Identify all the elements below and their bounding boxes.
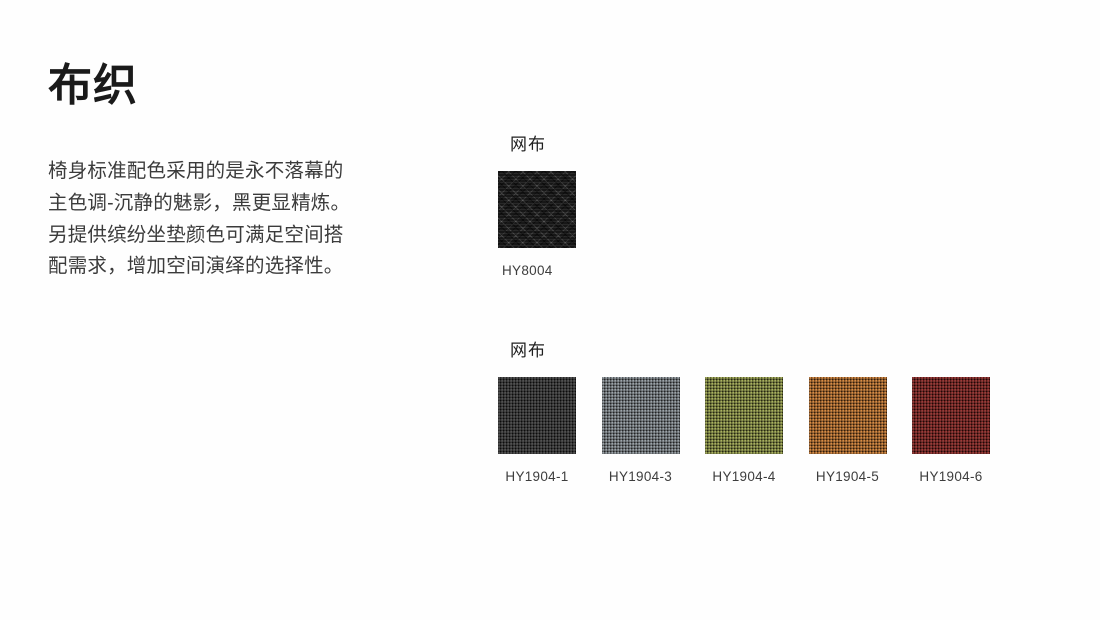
description-line-2: 主色调-沉静的魅影，黑更显精炼。 — [48, 188, 388, 220]
swatch-item-hy1904-1[interactable]: HY1904-1 — [498, 377, 576, 484]
swatch-label-hy1904-4: HY1904-4 — [705, 454, 783, 484]
swatch-label-hy8004: HY8004 — [498, 248, 576, 278]
weave-texture-layer-b — [912, 377, 990, 454]
swatch-item-hy1904-3[interactable]: HY1904-3 — [602, 377, 680, 484]
section-heading-2: 网布 — [510, 336, 1058, 361]
page-title: 布织 — [48, 62, 448, 110]
swatch-label-hy1904-5: HY1904-5 — [809, 454, 887, 484]
swatch-section-mesh-primary: 网布 HY8004 — [498, 130, 1058, 278]
weave-texture-layer-a — [809, 377, 887, 454]
swatch-chip-hy1904-6[interactable] — [912, 377, 990, 454]
weave-texture-layer-c — [705, 377, 783, 454]
weave-texture-layer-a — [705, 377, 783, 454]
swatch-chip-hy1904-1[interactable] — [498, 377, 576, 454]
weave-texture-layer-a — [602, 377, 680, 454]
weave-texture-layer-a — [912, 377, 990, 454]
swatch-chip-hy1904-3[interactable] — [602, 377, 680, 454]
weave-texture-layer-b — [809, 377, 887, 454]
weave-texture-layer-c — [602, 377, 680, 454]
weave-texture-layer-c — [809, 377, 887, 454]
description-line-1: 椅身标准配色采用的是永不落幕的 — [48, 156, 388, 188]
swatch-item-hy1904-5[interactable]: HY1904-5 — [809, 377, 887, 484]
weave-texture-layer-b — [602, 377, 680, 454]
weave-texture-layer-b — [705, 377, 783, 454]
weave-texture-layer-a — [498, 377, 576, 454]
swatch-item-hy1904-4[interactable]: HY1904-4 — [705, 377, 783, 484]
description-line-4: 配需求，增加空间演绎的选择性。 — [48, 251, 388, 283]
swatch-item-hy8004[interactable]: HY8004 — [498, 171, 576, 278]
swatch-label-hy1904-1: HY1904-1 — [498, 454, 576, 484]
mesh-texture-layer-c — [498, 171, 576, 248]
left-content-column: 布织 椅身标准配色采用的是永不落幕的 主色调-沉静的魅影，黑更显精炼。 另提供缤… — [48, 62, 448, 283]
swatch-label-hy1904-6: HY1904-6 — [912, 454, 990, 484]
swatch-row-1: HY8004 — [498, 171, 1058, 278]
description-paragraph: 椅身标准配色采用的是永不落幕的 主色调-沉静的魅影，黑更显精炼。 另提供缤纷坐垫… — [48, 110, 388, 282]
swatch-panel: 网布 HY8004 网布 HY1904-1 — [498, 130, 1058, 484]
swatch-chip-hy8004[interactable] — [498, 171, 576, 248]
weave-texture-layer-c — [912, 377, 990, 454]
weave-texture-layer-c — [498, 377, 576, 454]
swatch-chip-hy1904-5[interactable] — [809, 377, 887, 454]
swatch-chip-hy1904-4[interactable] — [705, 377, 783, 454]
section-heading-1: 网布 — [510, 130, 1058, 155]
swatch-row-2: HY1904-1 HY1904-3 HY1904-4 — [498, 377, 1058, 484]
swatch-label-hy1904-3: HY1904-3 — [602, 454, 680, 484]
weave-texture-layer-b — [498, 377, 576, 454]
description-line-3: 另提供缤纷坐垫颜色可满足空间搭 — [48, 220, 388, 252]
mesh-texture-layer-a — [498, 171, 576, 248]
swatch-section-mesh-colors: 网布 HY1904-1 HY1904-3 — [498, 336, 1058, 484]
swatch-item-hy1904-6[interactable]: HY1904-6 — [912, 377, 990, 484]
mesh-texture-layer-b — [498, 171, 576, 248]
